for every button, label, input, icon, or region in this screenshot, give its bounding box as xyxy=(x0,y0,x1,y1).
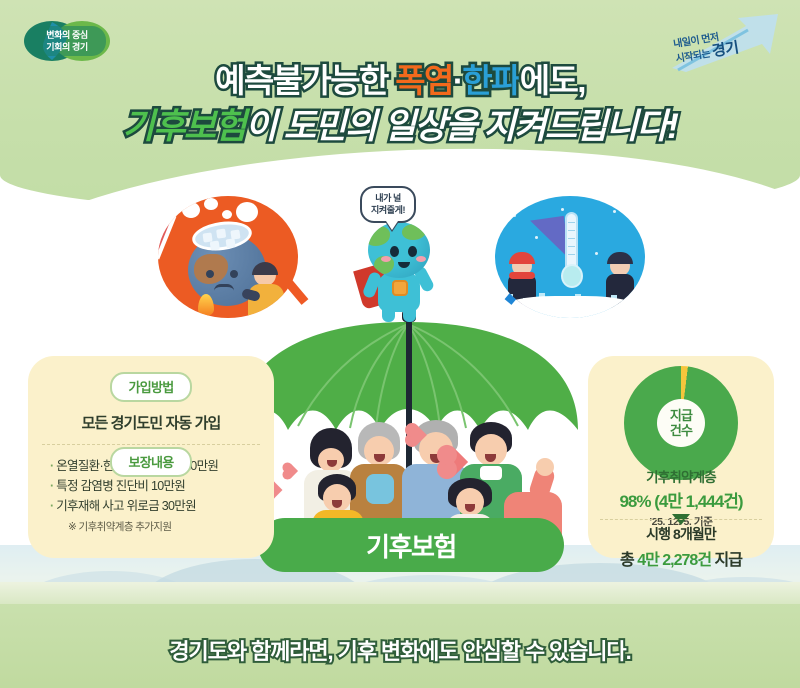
donut-center-label: 지급 건수 xyxy=(657,399,705,447)
umbrella-label-text: 기후보험 xyxy=(366,527,456,564)
earth-eye xyxy=(230,270,238,278)
total-count-highlight: 4만 2,278건 xyxy=(637,552,711,569)
join-method-text: 모든 경기도민 자동 가입 xyxy=(28,412,274,433)
umbrella-product-label: 기후보험 xyxy=(258,518,564,572)
mascot-leg-right xyxy=(403,308,416,322)
join-method-badge: 가입방법 xyxy=(110,372,191,402)
coverage-bullet-text: 특정 감염병 진단비 10만원 xyxy=(56,479,185,493)
operating-period-text: 시행 8개월만 xyxy=(588,524,774,544)
speech-line-1: 내가 널 xyxy=(371,192,405,204)
mascot-head xyxy=(368,222,430,278)
mascot-speech-bubble: 내가 널 지켜줄게! xyxy=(360,186,416,223)
steam-puff-icon xyxy=(236,202,258,222)
headline-separator: · xyxy=(453,62,462,99)
coverage-note: ※ 기후취약계층 추가지원 xyxy=(68,519,266,534)
headline-line-2: 기후보험이 도민의 일상을 지켜드립니다! xyxy=(0,104,800,150)
total-prefix: 총 xyxy=(620,552,637,569)
footer-message: 경기도와 함께라면, 기후 변화에도 안심할 수 있습니다. xyxy=(0,634,800,666)
mascot-body xyxy=(378,272,420,312)
mascot-leg-left xyxy=(382,308,395,322)
enrollment-info-card: 가입방법 모든 경기도민 자동 가입 보장내용 · 온열질환·한랭질환 진단비 … xyxy=(28,356,274,558)
earth-frown xyxy=(214,284,234,291)
coverage-badge-row: 보장내용 xyxy=(28,447,274,477)
payout-stats-card: 지급 건수 기후취약계층 98% (4만 1,444건) '25. 12. 5.… xyxy=(588,356,774,558)
headline-suffix: 에도, xyxy=(520,62,585,99)
headline-product-name: 기후보험 xyxy=(123,107,245,146)
headline-coldwave: 한파 xyxy=(462,62,520,99)
total-payout-text: 총 4만 2,278건 지급 xyxy=(588,546,774,570)
total-payout-group: 시행 8개월만 총 4만 2,278건 지급 xyxy=(588,524,774,570)
headline-line-2-rest: 이 도민의 일상을 지켜드립니다! xyxy=(245,107,677,146)
join-badge-row: 가입방법 xyxy=(28,372,274,402)
logo-text-block: 변화의 중심 기회의 경기 xyxy=(22,18,112,64)
bullet-dot-icon: · xyxy=(50,499,53,513)
earth-hero-mascot xyxy=(356,214,444,324)
card-divider xyxy=(600,519,762,520)
logo-line-2: 기회의 경기 xyxy=(46,41,88,53)
headline-prefix: 예측불가능한 xyxy=(215,62,395,99)
donut-label-line-2: 건수 xyxy=(670,423,692,438)
card-divider xyxy=(42,444,260,445)
steam-puff-icon xyxy=(204,198,218,210)
footer-message-text: 경기도와 함께라면, 기후 변화에도 안심할 수 있습니다. xyxy=(169,639,630,664)
payout-donut-chart: 지급 건수 xyxy=(624,366,738,480)
donut-label-line-1: 지급 xyxy=(670,408,692,423)
logo-line-1: 변화의 중심 xyxy=(46,29,88,41)
coverage-badge: 보장내용 xyxy=(110,447,191,477)
vulnerable-group-label: 기후취약계층 xyxy=(588,466,774,486)
hero-badge-icon xyxy=(392,280,408,296)
coverage-bullet-text: 기후재해 사고 위로금 30만원 xyxy=(56,499,196,513)
speech-line-2: 지켜줄게! xyxy=(371,204,405,216)
gyeonggi-logo: 변화의 중심 기회의 경기 xyxy=(22,18,112,64)
headline-heatwave: 폭염 xyxy=(395,62,453,99)
background-footer-gradient xyxy=(0,582,800,604)
steam-puff-icon xyxy=(182,202,200,218)
coverage-bullet: · 특정 감염병 진단비 10만원 xyxy=(50,476,266,496)
poster-root: 변화의 중심 기회의 경기 내일이 먼저 시작되는 경기 예측불가능한 폭염·한… xyxy=(0,0,800,688)
speech-tail xyxy=(386,221,398,230)
bullet-dot-icon: · xyxy=(50,479,53,493)
earth-eye xyxy=(206,270,214,278)
coverage-bullet: · 기후재해 사고 위로금 30만원 xyxy=(50,496,266,516)
thermometer-icon xyxy=(561,212,581,294)
earth-landmass xyxy=(194,254,228,284)
steam-puff-icon xyxy=(222,210,232,219)
vulnerable-group-value: 98% (4만 1,444건) xyxy=(588,487,774,512)
slogan-badge: 내일이 먼저 시작되는 경기 xyxy=(668,12,786,74)
total-suffix: 지급 xyxy=(711,552,742,569)
